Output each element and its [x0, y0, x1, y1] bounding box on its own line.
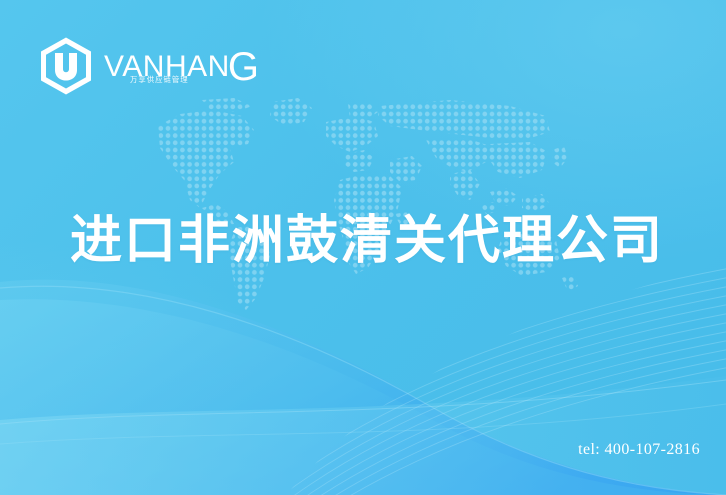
- vanhang-hexagon-mark-icon: [38, 36, 94, 96]
- brand-subtitle: 万享供应链管理: [130, 75, 189, 85]
- headline-title: 进口非洲鼓清关代理公司: [70, 212, 664, 270]
- promo-banner: VANHANG 万享供应链管理 进口非洲鼓清关代理公司 tel: 400-107…: [0, 0, 726, 495]
- brand-wordmark: VANHANG 万享供应链管理: [104, 50, 261, 82]
- contact-telephone: tel: 400-107-2816: [578, 441, 700, 459]
- brand-wordmark-tail: G: [228, 45, 260, 89]
- brand-logo[interactable]: VANHANG 万享供应链管理: [38, 36, 261, 96]
